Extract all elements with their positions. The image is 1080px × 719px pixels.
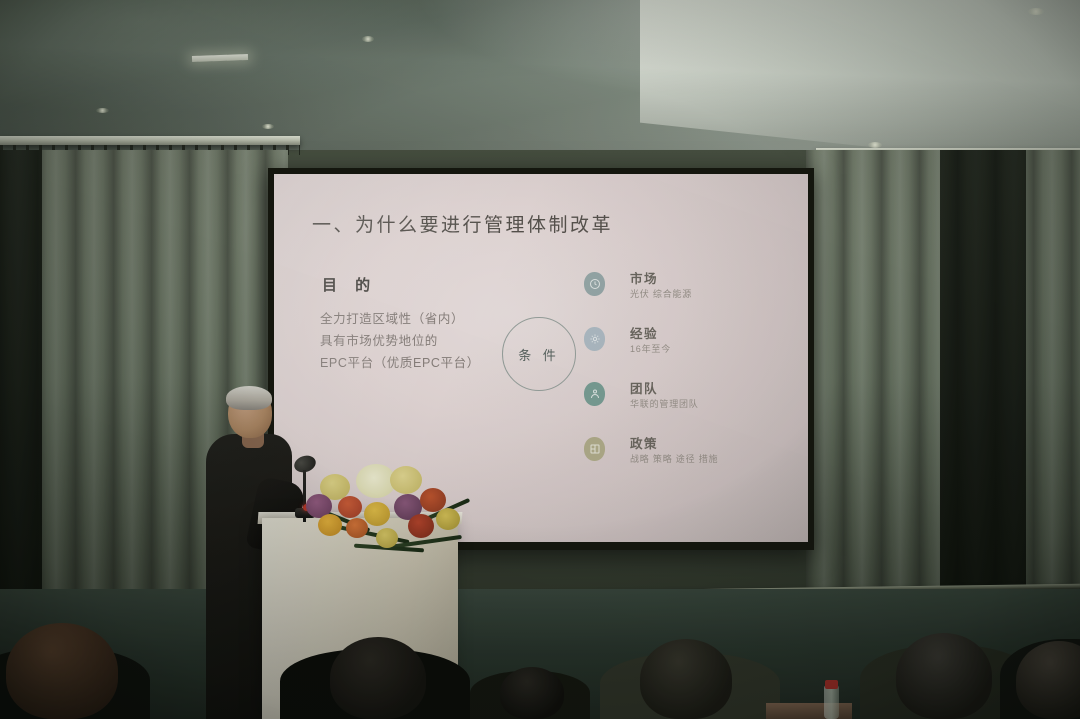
- flower: [346, 518, 368, 538]
- people-icon: [584, 382, 605, 406]
- audience-head: [896, 633, 992, 719]
- goal-line-1: 全力打造区域性（省内）: [320, 308, 480, 330]
- goal-line-3: EPC平台（优质EPC平台）: [320, 352, 480, 374]
- fern-frond: [332, 524, 409, 544]
- feature-subtitle: 华联的管理团队: [630, 397, 699, 410]
- condition-badge: 条 件: [502, 317, 576, 391]
- flower: [390, 466, 422, 494]
- slide-title: 一、为什么要进行管理体制改革: [312, 210, 613, 237]
- goal-line-2: 具有市场优势地位的: [320, 330, 480, 352]
- downlight: [362, 36, 374, 42]
- flower: [436, 508, 460, 530]
- feature-subtitle: 16年至今: [630, 342, 671, 355]
- speaker-hair: [226, 386, 272, 410]
- audience-head: [6, 623, 118, 719]
- flower: [364, 502, 390, 526]
- presentation-photo: 一、为什么要进行管理体制改革 目 的 全力打造区域性（省内） 具有市场优势地位的…: [0, 0, 1080, 719]
- feature-list: 市场 光伏 综合能源 经验 16年至今: [584, 266, 784, 486]
- audience-head: [500, 667, 564, 719]
- flower: [408, 514, 434, 538]
- building-icon: [584, 437, 605, 461]
- flower: [338, 496, 362, 518]
- goal-body: 全力打造区域性（省内） 具有市场优势地位的 EPC平台（优质EPC平台）: [320, 308, 480, 374]
- clock-icon: [584, 272, 605, 296]
- feature-subtitle: 光伏 综合能源: [630, 287, 692, 300]
- feature-item-policy: 政策 战略 策略 途径 措施: [584, 431, 784, 486]
- water-bottle: [824, 685, 839, 719]
- feature-title: 团队: [630, 378, 658, 397]
- audience-head: [330, 637, 426, 719]
- downlight: [96, 108, 109, 113]
- gear-icon: [584, 327, 605, 351]
- feature-subtitle: 战略 策略 途径 措施: [630, 452, 718, 465]
- flower-arrangement: [302, 450, 472, 565]
- feature-title: 市场: [630, 268, 658, 287]
- condition-badge-label: 条 件: [518, 345, 560, 364]
- goal-heading: 目 的: [322, 274, 377, 295]
- audience-head: [640, 639, 732, 719]
- feature-title: 经验: [630, 323, 658, 342]
- downlight: [1028, 8, 1044, 15]
- feature-item-experience: 经验 16年至今: [584, 321, 784, 376]
- curtain-rail-left: [0, 136, 300, 145]
- feature-title: 政策: [630, 433, 658, 452]
- feature-item-team: 团队 华联的管理团队: [584, 376, 784, 431]
- flower: [318, 514, 342, 536]
- bottle-cap: [825, 680, 838, 689]
- table-edge: [766, 703, 852, 719]
- downlight: [262, 124, 274, 129]
- flower: [376, 528, 398, 548]
- feature-item-market: 市场 光伏 综合能源: [584, 266, 784, 321]
